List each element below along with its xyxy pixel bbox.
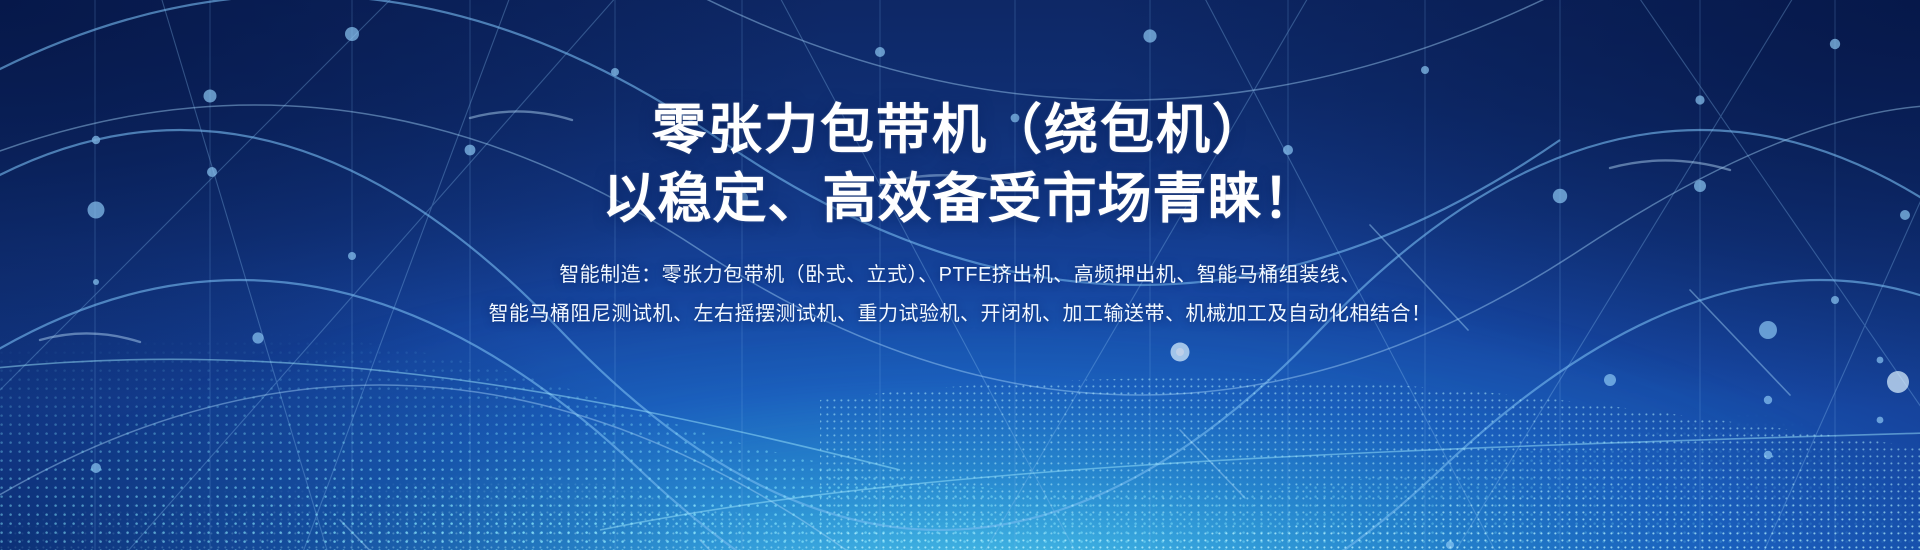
banner-content: 零张力包带机（绕包机） 以稳定、高效备受市场青睐！ 智能制造：零张力包带机（卧式… [0, 0, 1920, 550]
subtitle-line-2: 智能马桶阻尼测试机、左右摇摆测试机、重力试验机、开闭机、加工输送带、机械加工及自… [489, 295, 1432, 334]
headline-line-2: 以稳定、高效备受市场青睐！ [603, 165, 1318, 234]
promotional-banner: 零张力包带机（绕包机） 以稳定、高效备受市场青睐！ 智能制造：零张力包带机（卧式… [0, 0, 1920, 550]
subtitle-block: 智能制造：零张力包带机（卧式、立式）、PTFE挤出机、高频押出机、智能马桶组装线… [489, 256, 1432, 334]
subtitle-line-1: 智能制造：零张力包带机（卧式、立式）、PTFE挤出机、高频押出机、智能马桶组装线… [489, 256, 1432, 295]
headline-line-1: 零张力包带机（绕包机） [652, 96, 1268, 165]
